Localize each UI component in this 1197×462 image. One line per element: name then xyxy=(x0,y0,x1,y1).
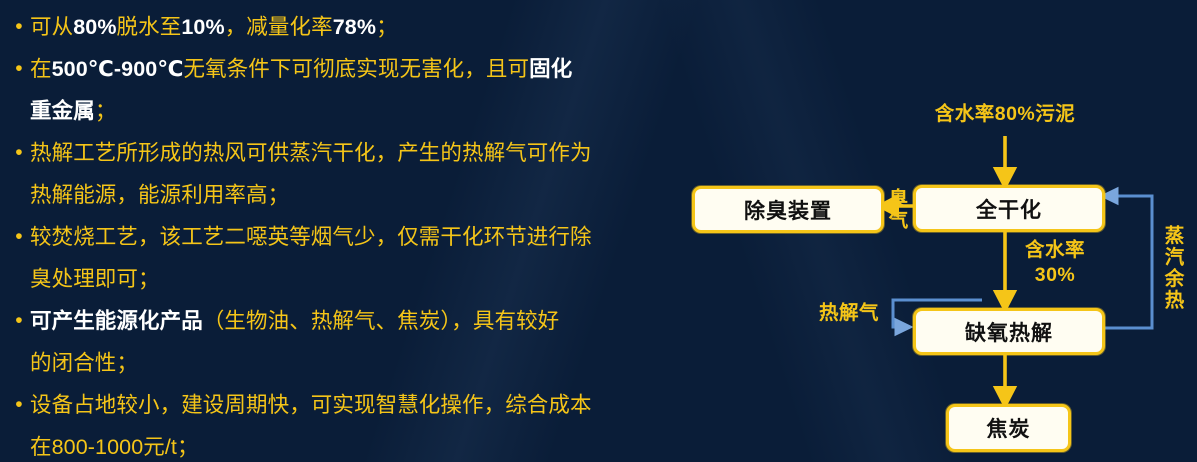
slide-canvas: • 可从80%脱水至10%，减量化率78%； • 在500℃-900℃无氧条件下… xyxy=(0,0,1197,462)
node-coke[interactable]: 焦炭 xyxy=(946,404,1071,452)
label-pyrolysis-gas: 热解气 xyxy=(812,302,886,325)
node-label: 全干化 xyxy=(976,194,1042,224)
label-moisture-30-line1: 含水率 xyxy=(1012,239,1098,262)
node-label: 缺氧热解 xyxy=(965,317,1053,347)
node-label: 除臭装置 xyxy=(744,195,832,225)
node-anoxic-pyrolysis[interactable]: 缺氧热解 xyxy=(913,308,1105,355)
node-full-drying[interactable]: 全干化 xyxy=(913,185,1105,232)
label-odor-gas: 臭气 xyxy=(886,172,906,246)
label-feed-sludge: 含水率80%污泥 xyxy=(915,103,1095,126)
label-moisture-30-line2: 30% xyxy=(1012,264,1098,287)
process-flow-diagram: 除臭装置 全干化 缺氧热解 焦炭 含水率80%污泥 臭气 含水率 30% 蒸汽余… xyxy=(0,0,1197,462)
label-steam-waste-heat: 蒸汽余热 xyxy=(1162,212,1182,324)
arrow-steam-waste-heat xyxy=(1099,196,1152,328)
node-deodorizer[interactable]: 除臭装置 xyxy=(692,186,884,233)
node-label: 焦炭 xyxy=(987,413,1031,443)
